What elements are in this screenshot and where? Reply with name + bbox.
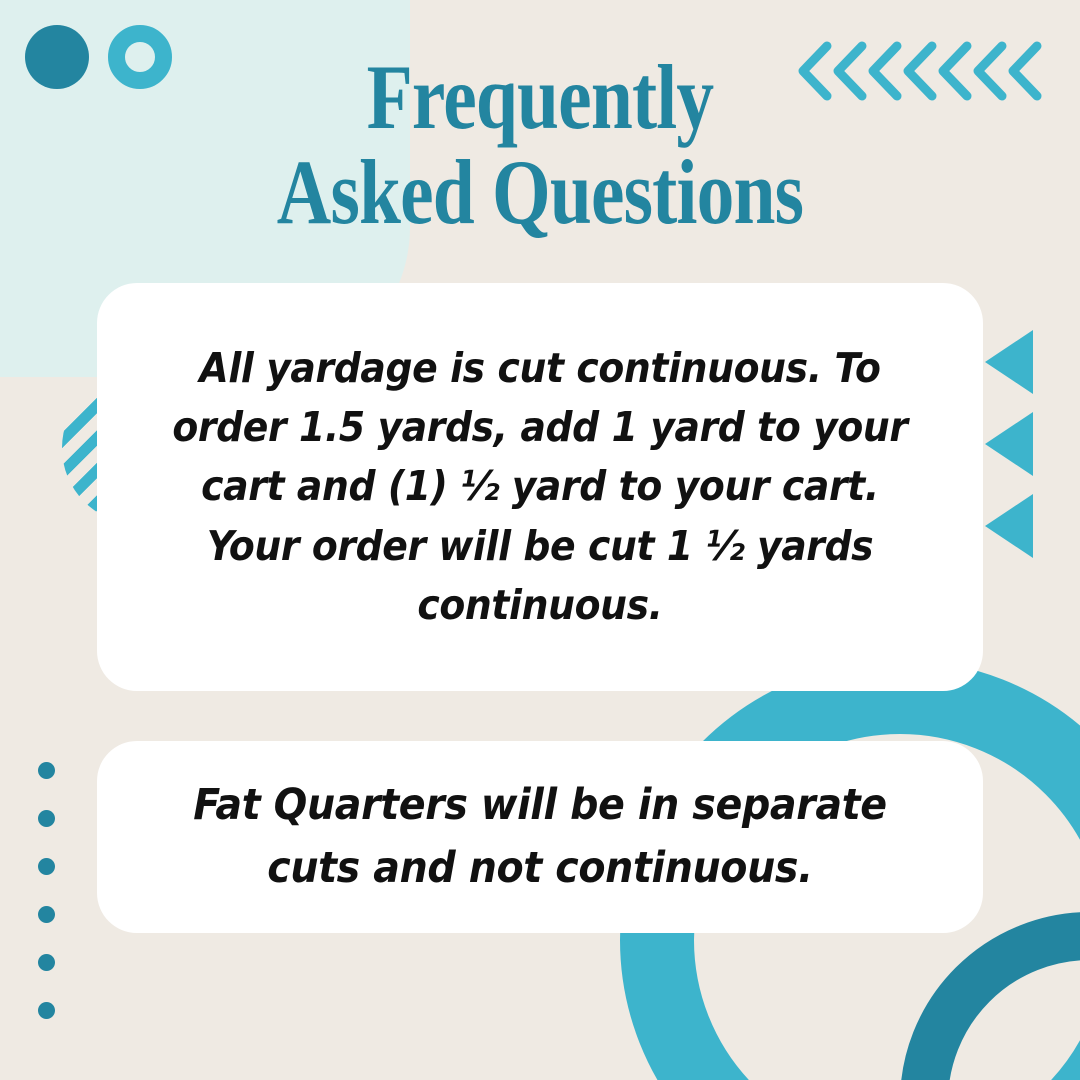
filled-circle-icon — [25, 25, 89, 89]
faq-card-yardage-text: All yardage is cut continuous. To order … — [164, 339, 917, 634]
small-dot-icon — [38, 762, 55, 779]
faq-card-fat-quarters: Fat Quarters will be in separate cuts an… — [97, 741, 983, 933]
small-dot-icon — [38, 1002, 55, 1019]
triangle-left-icon — [985, 412, 1033, 476]
small-dot-icon — [38, 954, 55, 971]
small-dot-icon — [38, 906, 55, 923]
poster-canvas: Frequently Asked Questions All yardage i… — [0, 0, 1080, 1080]
title-line-1: Frequently — [97, 50, 983, 145]
triangle-left-icon — [985, 494, 1033, 558]
dot-column — [38, 762, 55, 1050]
small-dot-icon — [38, 810, 55, 827]
faq-card-fat-quarters-text: Fat Quarters will be in separate cuts an… — [169, 774, 911, 900]
page-title: Frequently Asked Questions — [97, 50, 983, 240]
title-line-2: Asked Questions — [97, 145, 983, 240]
small-dot-icon — [38, 858, 55, 875]
faq-card-yardage: All yardage is cut continuous. To order … — [97, 283, 983, 691]
triangle-left-icon — [985, 330, 1033, 394]
